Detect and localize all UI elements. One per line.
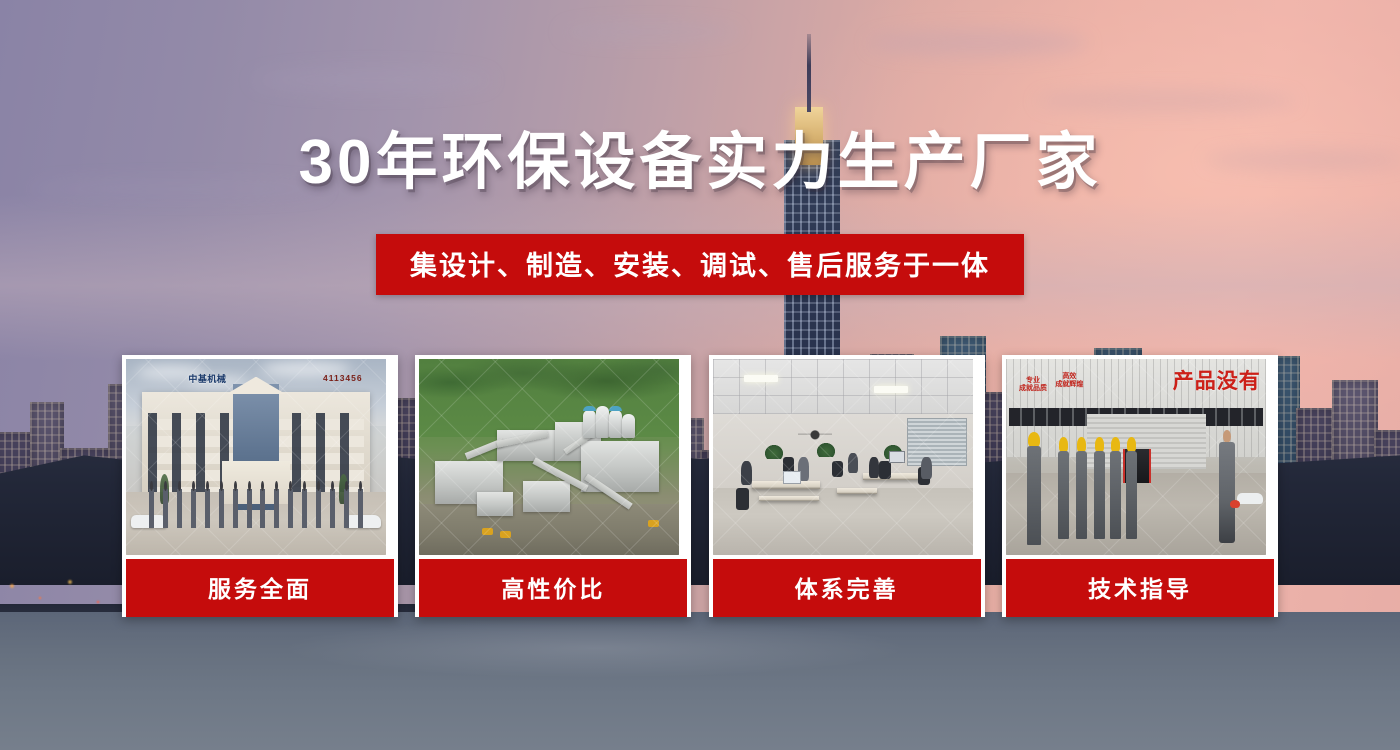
cloud-shape (252, 68, 492, 92)
feature-card-training[interactable]: 产品没有 专业成就品质 高效成就辉煌 (1002, 355, 1278, 617)
card-caption: 高性价比 (419, 559, 687, 617)
card-photo-office (713, 359, 973, 555)
card-caption: 体系完善 (713, 559, 981, 617)
factory-slogan-left: 专业成就品质 (1019, 377, 1047, 395)
subtitle-ribbon: 集设计、制造、安装、调试、售后服务于一体 (376, 234, 1024, 295)
card-photo-headquarters: 中基机械 4113456 (126, 359, 386, 555)
feature-card-list: 中基机械 4113456 (122, 355, 1278, 617)
wall-decal-icon (798, 420, 832, 444)
building-signage: 中基机械 (188, 372, 226, 385)
card-caption: 技术指导 (1006, 559, 1274, 617)
supervisor-figure (1219, 430, 1235, 544)
card-photo-worker-training: 产品没有 专业成就品质 高效成就辉煌 (1006, 359, 1266, 555)
page-title: 30年环保设备实力生产厂家 (0, 130, 1400, 195)
card-caption: 服务全面 (126, 559, 394, 617)
promo-banner: 30年环保设备实力生产厂家 集设计、制造、安装、调试、售后服务于一体 中基机械 … (0, 0, 1400, 750)
water-reflection (280, 618, 910, 678)
cloud-shape (1036, 90, 1296, 112)
factory-slogan-right: 高效成就辉煌 (1055, 373, 1083, 391)
feature-card-service[interactable]: 中基机械 4113456 (122, 355, 398, 617)
window-blinds (907, 418, 967, 466)
feature-card-system[interactable]: 体系完善 (709, 355, 985, 617)
building-phone-number: 4113456 (323, 373, 363, 383)
cloud-shape (868, 30, 1088, 56)
feature-card-value[interactable]: 高性价比 (415, 355, 691, 617)
red-helmet-icon (1230, 500, 1240, 508)
tower-spire (807, 34, 811, 112)
card-photo-plant-aerial (419, 359, 679, 555)
cloud-shape (560, 23, 740, 41)
staff-row (149, 481, 362, 528)
factory-wall-text: 产品没有 (1173, 365, 1261, 395)
